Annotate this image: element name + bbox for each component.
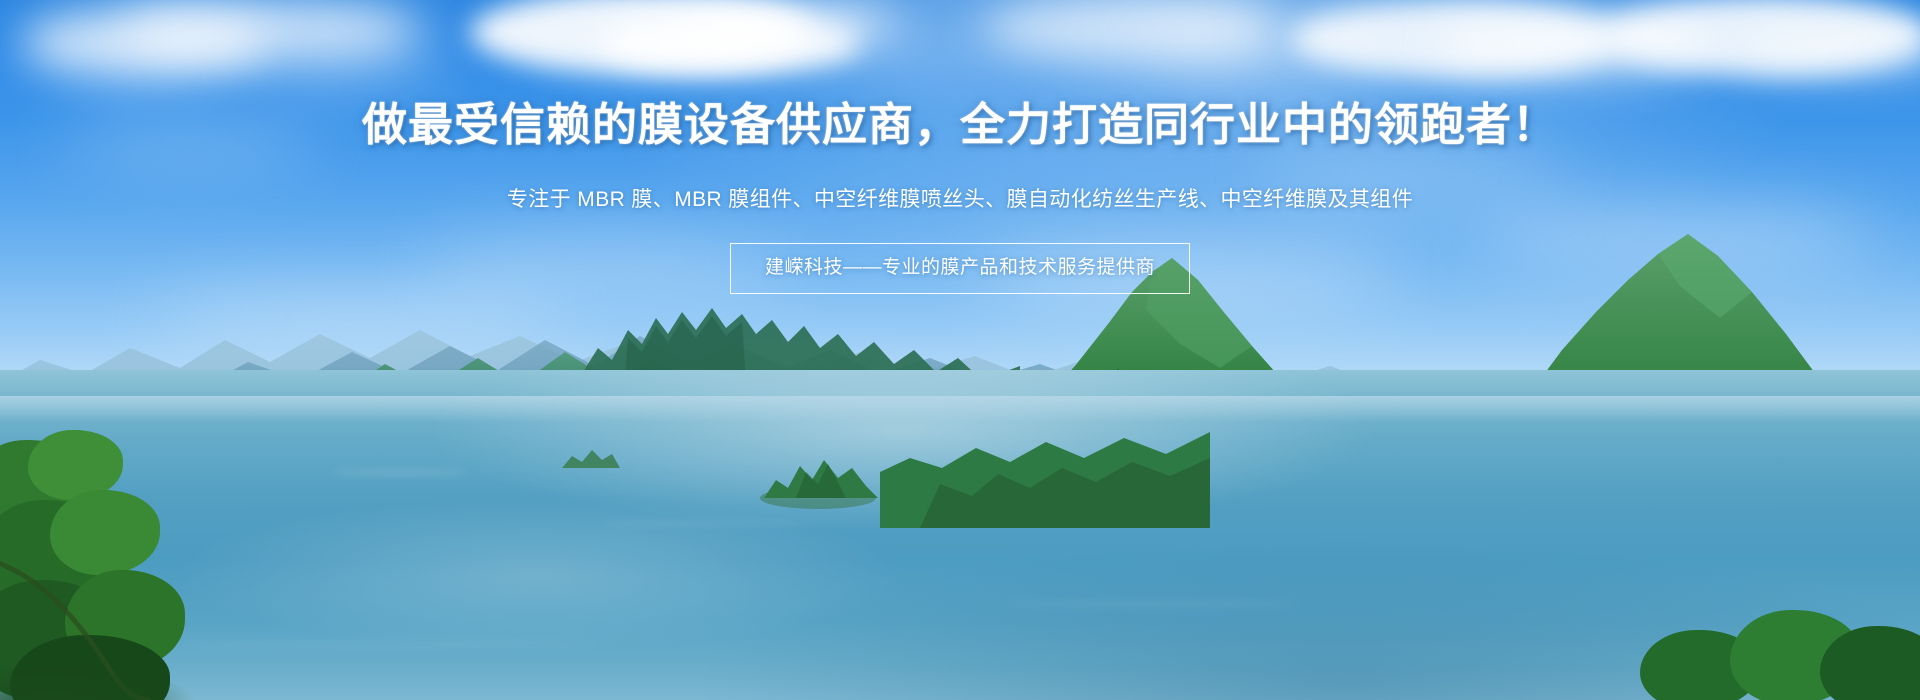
- banner-tagline-box: 建嵘科技——专业的膜产品和技术服务提供商: [730, 243, 1190, 294]
- hero-banner: 做最受信赖的膜设备供应商，全力打造同行业中的领跑者！ 专注于 MBR 膜、MBR…: [0, 0, 1920, 700]
- banner-headline: 做最受信赖的膜设备供应商，全力打造同行业中的领跑者！: [0, 97, 1920, 153]
- banner-tagline-wrapper: 建嵘科技——专业的膜产品和技术服务提供商: [0, 243, 1920, 294]
- text-overlay: 做最受信赖的膜设备供应商，全力打造同行业中的领跑者！ 专注于 MBR 膜、MBR…: [0, 0, 1920, 700]
- banner-subtitle: 专注于 MBR 膜、MBR 膜组件、中空纤维膜喷丝头、膜自动化纺丝生产线、中空纤…: [0, 185, 1920, 215]
